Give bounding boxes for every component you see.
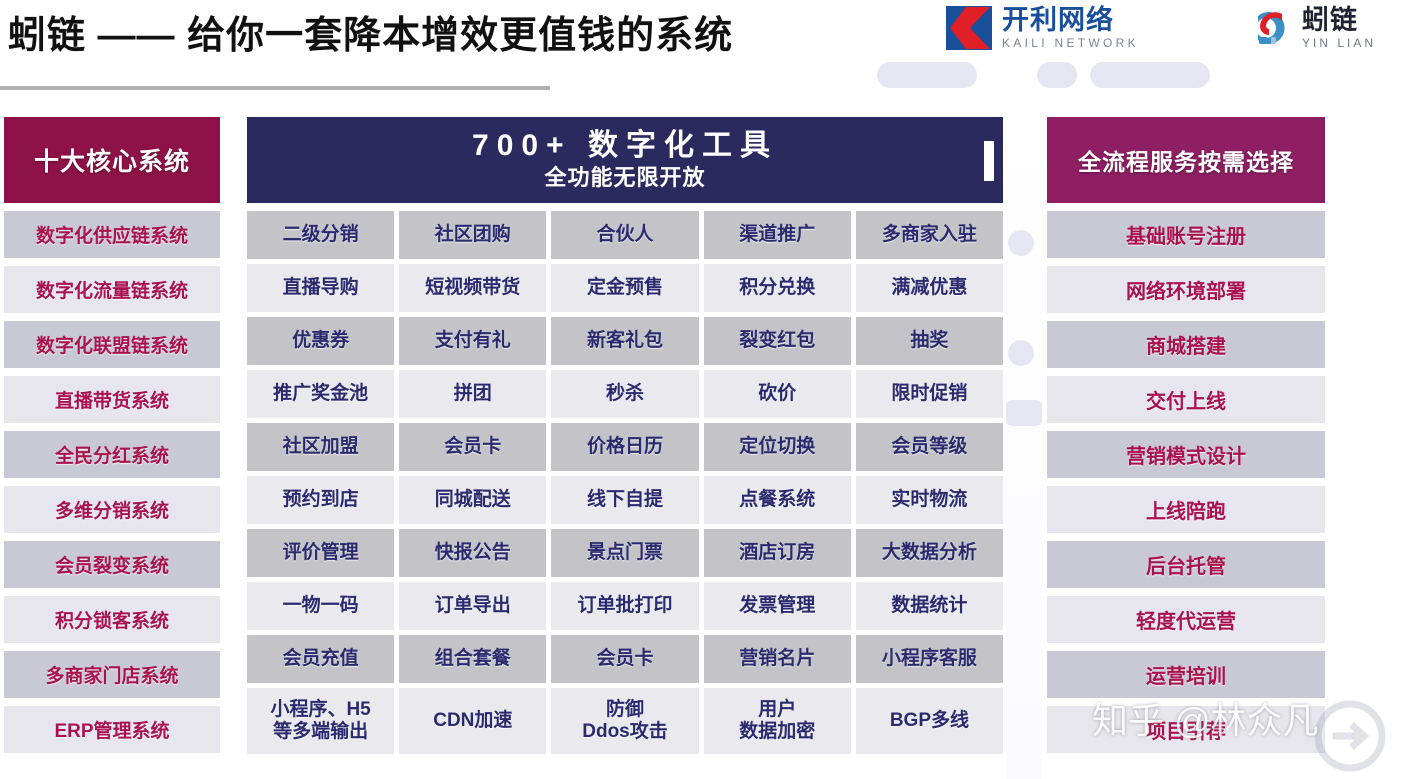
kaili-logo-cn: 开利网络 xyxy=(1002,7,1139,34)
tool-cell-label: 会员卡 xyxy=(444,436,501,458)
sidebar-item-label: ERP管理系统 xyxy=(54,716,169,743)
tool-cell-4-0[interactable]: 社区加盟 xyxy=(247,423,394,471)
sidebar-item-label: 网络环境部署 xyxy=(1126,275,1246,304)
sidebar-item-label: 多维分销系统 xyxy=(55,496,169,523)
yinlian-s-mark-icon xyxy=(1248,4,1296,52)
yinlian-logo: 蚓链 YIN LIAN xyxy=(1248,2,1376,54)
tool-cell-label: 大数据分析 xyxy=(882,542,977,564)
tool-cell-label: 多商家入驻 xyxy=(882,224,977,246)
tool-cell-3-2[interactable]: 秒杀 xyxy=(551,370,698,418)
tools-grid: 二级分销社区团购合伙人渠道推广多商家入驻直播导购短视频带货定金预售积分兑换满减优… xyxy=(247,211,1003,754)
tool-cell-label: 砍价 xyxy=(758,383,796,405)
tools-grid-row: 社区加盟会员卡价格日历定位切换会员等级 xyxy=(247,423,1003,471)
sidebar-item-label: 多商家门店系统 xyxy=(45,661,178,688)
tool-cell-4-4[interactable]: 会员等级 xyxy=(856,423,1003,471)
tool-cell-1-4[interactable]: 满减优惠 xyxy=(856,264,1003,312)
decorative-circle xyxy=(1008,230,1034,256)
tool-cell-3-4[interactable]: 限时促销 xyxy=(856,370,1003,418)
sidebar-item-right-2[interactable]: 商城搭建 xyxy=(1047,321,1325,368)
page-title: 蚓链 —— 给你一套降本增效更值钱的系统 xyxy=(8,4,733,59)
tool-cell-label: 订单导出 xyxy=(435,595,511,617)
sidebar-item-right-8[interactable]: 运营培训 xyxy=(1047,651,1325,698)
decorative-circle xyxy=(1008,340,1034,366)
tool-cell-0-3[interactable]: 渠道推广 xyxy=(704,211,851,259)
banner-tick-marker xyxy=(984,141,994,181)
sidebar-item-label: 全民分红系统 xyxy=(55,441,169,468)
tool-cell-label: BGP多线 xyxy=(890,710,969,732)
banner-line-1: 700+ 数字化工具 xyxy=(472,129,778,164)
tool-cell-3-3[interactable]: 砍价 xyxy=(704,370,851,418)
tool-cell-0-0[interactable]: 二级分销 xyxy=(247,211,394,259)
yinlian-logo-en: YIN LIAN xyxy=(1302,36,1376,50)
tool-cell-label: 拼团 xyxy=(454,383,492,405)
tool-cell-label: 防御Ddos攻击 xyxy=(582,699,668,743)
tool-cell-label: 定位切换 xyxy=(739,436,815,458)
tool-cell-5-1[interactable]: 同城配送 xyxy=(399,476,546,524)
tool-cell-7-0[interactable]: 一物一码 xyxy=(247,582,394,630)
tool-cell-label: 渠道推广 xyxy=(739,224,815,246)
tool-cell-8-2[interactable]: 会员卡 xyxy=(551,635,698,683)
tool-cell-label: 短视频带货 xyxy=(425,277,520,299)
sidebar-item-label: 积分锁客系统 xyxy=(55,606,169,633)
tool-cell-label: 满减优惠 xyxy=(891,277,967,299)
kaili-k-mark-icon xyxy=(944,4,996,52)
tool-cell-label: 社区团购 xyxy=(435,224,511,246)
sidebar-item-right-6[interactable]: 后台托管 xyxy=(1047,541,1325,588)
tool-cell-label: 用户数据加密 xyxy=(739,699,815,743)
sidebar-item-left-7[interactable]: 积分锁客系统 xyxy=(4,596,220,643)
decorative-column xyxy=(1006,100,1042,779)
right-panel: 全流程服务按需选择 基础账号注册网络环境部署商城搭建交付上线营销模式设计上线陪跑… xyxy=(1047,117,1325,761)
tools-grid-row: 预约到店同城配送线下自提点餐系统实时物流 xyxy=(247,476,1003,524)
tool-cell-4-1[interactable]: 会员卡 xyxy=(399,423,546,471)
sidebar-item-right-1[interactable]: 网络环境部署 xyxy=(1047,266,1325,313)
tool-cell-label: 会员充值 xyxy=(283,648,359,670)
tool-cell-2-0[interactable]: 优惠券 xyxy=(247,317,394,365)
left-panel-list: 数字化供应链系统数字化流量链系统数字化联盟链系统直播带货系统全民分红系统多维分销… xyxy=(4,211,220,753)
sidebar-item-left-1[interactable]: 数字化流量链系统 xyxy=(4,266,220,313)
tool-cell-4-3[interactable]: 定位切换 xyxy=(704,423,851,471)
tool-cell-8-4[interactable]: 小程序客服 xyxy=(856,635,1003,683)
kaili-network-logo: 开利网络 KAILI NETWORK xyxy=(944,2,1139,54)
yinlian-logo-cn: 蚓链 xyxy=(1302,7,1376,34)
sidebar-item-right-3[interactable]: 交付上线 xyxy=(1047,376,1325,423)
tool-cell-0-1[interactable]: 社区团购 xyxy=(399,211,546,259)
tool-cell-9-1[interactable]: CDN加速 xyxy=(399,688,546,754)
sidebar-item-left-6[interactable]: 会员裂变系统 xyxy=(4,541,220,588)
tool-cell-label: 营销名片 xyxy=(739,648,815,670)
sidebar-item-left-5[interactable]: 多维分销系统 xyxy=(4,486,220,533)
sidebar-item-left-8[interactable]: 多商家门店系统 xyxy=(4,651,220,698)
kaili-logo-en: KAILI NETWORK xyxy=(1002,36,1139,50)
tool-cell-1-3[interactable]: 积分兑换 xyxy=(704,264,851,312)
tool-cell-3-0[interactable]: 推广奖金池 xyxy=(247,370,394,418)
tool-cell-2-4[interactable]: 抽奖 xyxy=(856,317,1003,365)
center-panel: 700+ 数字化工具 全功能无限开放 二级分销社区团购合伙人渠道推广多商家入驻直… xyxy=(247,117,1003,754)
tools-grid-row: 优惠券支付有礼新客礼包裂变红包抽奖 xyxy=(247,317,1003,365)
tool-cell-label: 合伙人 xyxy=(597,224,654,246)
sidebar-item-right-0[interactable]: 基础账号注册 xyxy=(1047,211,1325,258)
tool-cell-label: 评价管理 xyxy=(283,542,359,564)
decorative-rect xyxy=(1006,400,1042,426)
tool-cell-6-3[interactable]: 酒店订房 xyxy=(704,529,851,577)
tool-cell-5-4[interactable]: 实时物流 xyxy=(856,476,1003,524)
tool-cell-label: 快报公告 xyxy=(435,542,511,564)
tool-cell-9-4[interactable]: BGP多线 xyxy=(856,688,1003,754)
tool-cell-label: 优惠券 xyxy=(292,330,349,352)
tools-banner: 700+ 数字化工具 全功能无限开放 xyxy=(247,117,1003,203)
tool-cell-6-0[interactable]: 评价管理 xyxy=(247,529,394,577)
tool-cell-label: 酒店订房 xyxy=(739,542,815,564)
tools-grid-row: 二级分销社区团购合伙人渠道推广多商家入驻 xyxy=(247,211,1003,259)
tool-cell-label: 社区加盟 xyxy=(283,436,359,458)
sidebar-item-left-2[interactable]: 数字化联盟链系统 xyxy=(4,321,220,368)
tool-cell-2-1[interactable]: 支付有礼 xyxy=(399,317,546,365)
tool-cell-label: 实时物流 xyxy=(891,489,967,511)
tool-cell-label: 点餐系统 xyxy=(739,489,815,511)
tool-cell-9-2[interactable]: 防御Ddos攻击 xyxy=(551,688,698,754)
sidebar-item-label: 运营培训 xyxy=(1146,660,1226,689)
sidebar-item-label: 会员裂变系统 xyxy=(55,551,169,578)
banner-line-2: 全功能无限开放 xyxy=(544,165,705,191)
tool-cell-6-4[interactable]: 大数据分析 xyxy=(856,529,1003,577)
sidebar-item-label: 后台托管 xyxy=(1146,550,1226,579)
sidebar-item-label: 数字化供应链系统 xyxy=(36,221,188,248)
right-panel-heading: 全流程服务按需选择 xyxy=(1047,117,1325,203)
tool-cell-label: 支付有礼 xyxy=(435,330,511,352)
tool-cell-label: 推广奖金池 xyxy=(273,383,368,405)
tools-grid-row: 评价管理快报公告景点门票酒店订房大数据分析 xyxy=(247,529,1003,577)
tools-grid-row: 一物一码订单导出订单批打印发票管理数据统计 xyxy=(247,582,1003,630)
tool-cell-label: 数据统计 xyxy=(891,595,967,617)
tool-cell-label: 线下自提 xyxy=(587,489,663,511)
tool-cell-label: CDN加速 xyxy=(433,710,512,732)
sidebar-item-left-0[interactable]: 数字化供应链系统 xyxy=(4,211,220,258)
tools-grid-row: 会员充值组合套餐会员卡营销名片小程序客服 xyxy=(247,635,1003,683)
tool-cell-9-0[interactable]: 小程序、H5等多端输出 xyxy=(247,688,394,754)
tool-cell-label: 秒杀 xyxy=(606,383,644,405)
tool-cell-label: 会员等级 xyxy=(891,436,967,458)
left-panel-heading: 十大核心系统 xyxy=(4,117,220,203)
sidebar-item-label: 交付上线 xyxy=(1146,385,1226,414)
tool-cell-label: 发票管理 xyxy=(739,595,815,617)
decorative-pill xyxy=(1037,62,1077,88)
sidebar-item-right-5[interactable]: 上线陪跑 xyxy=(1047,486,1325,533)
tool-cell-label: 景点门票 xyxy=(587,542,663,564)
tool-cell-7-3[interactable]: 发票管理 xyxy=(704,582,851,630)
tool-cell-5-0[interactable]: 预约到店 xyxy=(247,476,394,524)
sidebar-item-label: 基础账号注册 xyxy=(1126,220,1246,249)
tool-cell-5-3[interactable]: 点餐系统 xyxy=(704,476,851,524)
tool-cell-0-4[interactable]: 多商家入驻 xyxy=(856,211,1003,259)
tool-cell-label: 组合套餐 xyxy=(435,648,511,670)
tool-cell-5-2[interactable]: 线下自提 xyxy=(551,476,698,524)
tool-cell-9-3[interactable]: 用户数据加密 xyxy=(704,688,851,754)
sidebar-item-label: 营销模式设计 xyxy=(1126,440,1246,469)
tool-cell-1-0[interactable]: 直播导购 xyxy=(247,264,394,312)
tool-cell-3-1[interactable]: 拼团 xyxy=(399,370,546,418)
sidebar-item-label: 上线陪跑 xyxy=(1146,495,1226,524)
title-divider xyxy=(0,86,550,90)
tool-cell-label: 小程序客服 xyxy=(882,648,977,670)
tool-cell-1-1[interactable]: 短视频带货 xyxy=(399,264,546,312)
tools-grid-row: 推广奖金池拼团秒杀砍价限时促销 xyxy=(247,370,1003,418)
tool-cell-4-2[interactable]: 价格日历 xyxy=(551,423,698,471)
tool-cell-label: 同城配送 xyxy=(435,489,511,511)
tool-cell-2-3[interactable]: 裂变红包 xyxy=(704,317,851,365)
sidebar-item-left-3[interactable]: 直播带货系统 xyxy=(4,376,220,423)
tool-cell-label: 二级分销 xyxy=(283,224,359,246)
left-panel: 十大核心系统 数字化供应链系统数字化流量链系统数字化联盟链系统直播带货系统全民分… xyxy=(4,117,220,761)
tool-cell-label: 定金预售 xyxy=(587,277,663,299)
tool-cell-8-3[interactable]: 营销名片 xyxy=(704,635,851,683)
sidebar-item-label: 数字化流量链系统 xyxy=(36,276,188,303)
tool-cell-label: 裂变红包 xyxy=(739,330,815,352)
tool-cell-7-1[interactable]: 订单导出 xyxy=(399,582,546,630)
sidebar-item-right-4[interactable]: 营销模式设计 xyxy=(1047,431,1325,478)
sidebar-item-right-7[interactable]: 轻度代运营 xyxy=(1047,596,1325,643)
tools-grid-row: 小程序、H5等多端输出CDN加速防御Ddos攻击用户数据加密BGP多线 xyxy=(247,688,1003,754)
tool-cell-label: 限时促销 xyxy=(891,383,967,405)
tools-grid-row: 直播导购短视频带货定金预售积分兑换满减优惠 xyxy=(247,264,1003,312)
tool-cell-8-1[interactable]: 组合套餐 xyxy=(399,635,546,683)
tool-cell-label: 一物一码 xyxy=(283,595,359,617)
tool-cell-1-2[interactable]: 定金预售 xyxy=(551,264,698,312)
right-panel-list: 基础账号注册网络环境部署商城搭建交付上线营销模式设计上线陪跑后台托管轻度代运营运… xyxy=(1047,211,1325,753)
tool-cell-label: 订单批打印 xyxy=(578,595,673,617)
sidebar-item-label: 数字化联盟链系统 xyxy=(36,331,188,358)
tool-cell-6-1[interactable]: 快报公告 xyxy=(399,529,546,577)
tool-cell-8-0[interactable]: 会员充值 xyxy=(247,635,394,683)
tool-cell-0-2[interactable]: 合伙人 xyxy=(551,211,698,259)
sidebar-item-label: 直播带货系统 xyxy=(55,386,169,413)
sidebar-item-right-9[interactable]: 项目引荐 xyxy=(1047,706,1325,753)
sidebar-item-label: 商城搭建 xyxy=(1146,330,1226,359)
sidebar-item-left-4[interactable]: 全民分红系统 xyxy=(4,431,220,478)
tool-cell-2-2[interactable]: 新客礼包 xyxy=(551,317,698,365)
tool-cell-label: 积分兑换 xyxy=(739,277,815,299)
tool-cell-label: 直播导购 xyxy=(283,277,359,299)
decorative-pill xyxy=(877,62,977,88)
decorative-pill xyxy=(1090,62,1210,88)
sidebar-item-left-9[interactable]: ERP管理系统 xyxy=(4,706,220,753)
tool-cell-label: 预约到店 xyxy=(283,489,359,511)
tool-cell-7-2[interactable]: 订单批打印 xyxy=(551,582,698,630)
tool-cell-label: 抽奖 xyxy=(910,330,948,352)
tool-cell-7-4[interactable]: 数据统计 xyxy=(856,582,1003,630)
tool-cell-label: 价格日历 xyxy=(587,436,663,458)
sidebar-item-label: 轻度代运营 xyxy=(1136,605,1236,634)
tool-cell-label: 新客礼包 xyxy=(587,330,663,352)
tool-cell-label: 小程序、H5等多端输出 xyxy=(270,699,370,743)
tool-cell-label: 会员卡 xyxy=(597,648,654,670)
tool-cell-6-2[interactable]: 景点门票 xyxy=(551,529,698,577)
sidebar-item-label: 项目引荐 xyxy=(1146,715,1226,744)
